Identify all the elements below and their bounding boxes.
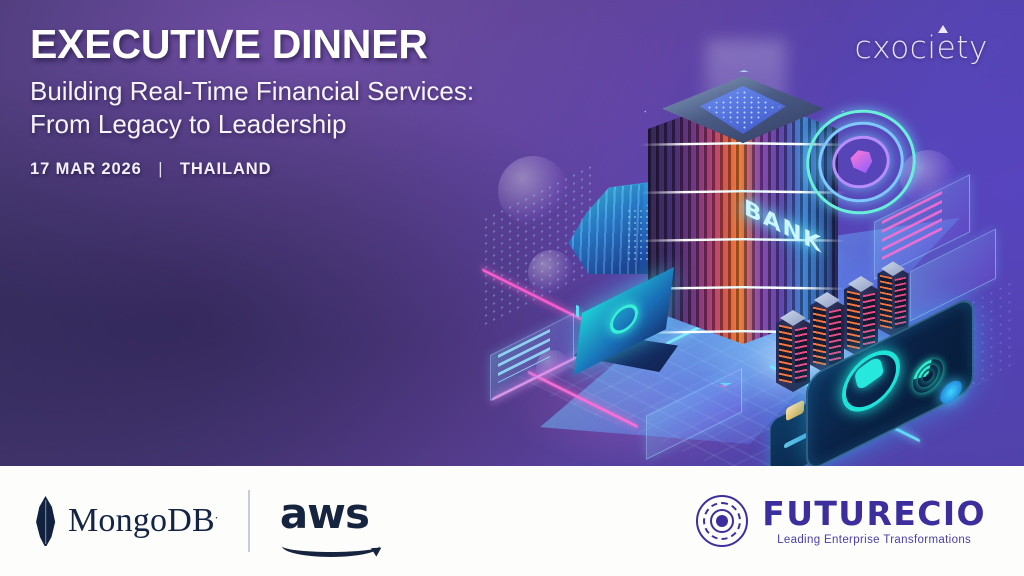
- futurecio-logo[interactable]: FUTURECIO Leading Enterprise Transformat…: [696, 495, 986, 547]
- rack-leds: [847, 291, 860, 350]
- futurecio-wordmark: FUTURECIO: [762, 497, 986, 531]
- server-rack-icon: [877, 265, 908, 337]
- event-subtitle-line1: Building Real-Time Financial Services:: [30, 75, 550, 108]
- rack-leds: [895, 277, 906, 329]
- mongodb-registered-mark: .: [215, 507, 218, 522]
- event-date: 17 MAR 2026: [30, 160, 142, 178]
- aws-smile-arrow-icon: [282, 535, 380, 557]
- rack-leds: [813, 307, 826, 366]
- rack-leds: [829, 309, 841, 366]
- rack-leds: [795, 327, 807, 384]
- hero-section: BANK: [0, 0, 1024, 466]
- cxociety-logo[interactable]: cxociety: [855, 30, 988, 66]
- aws-logo[interactable]: aws: [280, 493, 384, 549]
- sponsor-logos: MongoDB. aws: [34, 490, 384, 552]
- fintech-illustration: BANK: [470, 0, 1024, 466]
- server-rack-icon: [776, 314, 810, 392]
- mongodb-logo[interactable]: MongoDB.: [34, 496, 218, 546]
- event-subtitle: Building Real-Time Financial Services: F…: [30, 75, 550, 141]
- mongodb-wordmark: MongoDB.: [68, 502, 218, 540]
- futurecio-orbit-emblem-icon: [696, 495, 748, 547]
- event-location: THAILAND: [180, 160, 272, 178]
- cxociety-wordmark: cxociety: [855, 30, 988, 66]
- futurecio-text: FUTURECIO Leading Enterprise Transformat…: [762, 497, 986, 546]
- event-subtitle-line2: From Legacy to Leadership: [30, 108, 550, 141]
- logo-divider: [248, 490, 250, 552]
- rack-leds: [863, 293, 875, 350]
- event-text-block: EXECUTIVE DINNER Building Real-Time Fina…: [30, 22, 550, 179]
- futurecio-tagline: Leading Enterprise Transformations: [762, 534, 986, 546]
- mongodb-leaf-icon: [34, 496, 57, 546]
- aws-wordmark: aws: [280, 493, 384, 535]
- meta-separator: |: [147, 160, 174, 179]
- page-title: EXECUTIVE DINNER: [30, 22, 550, 66]
- rack-leds: [779, 325, 792, 384]
- rack-leds: [880, 275, 892, 329]
- sponsor-footer: MongoDB. aws FUTURECIO Leading Enterpris…: [0, 466, 1024, 576]
- mongodb-name: MongoDB: [68, 502, 215, 539]
- triangle-accent-icon: [938, 25, 948, 33]
- event-meta: 17 MAR 2026 | THAILAND: [30, 160, 550, 179]
- event-banner: BANK: [0, 0, 1024, 576]
